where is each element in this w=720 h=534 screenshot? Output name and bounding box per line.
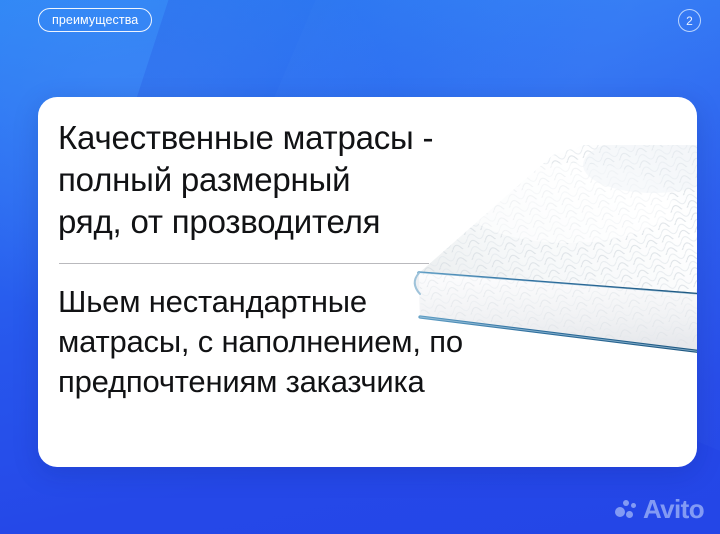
category-badge: преимущества bbox=[38, 8, 152, 32]
avito-watermark: Avito bbox=[615, 496, 704, 522]
slide-canvas: преимущества 2 bbox=[0, 0, 720, 534]
avito-logo-icon bbox=[615, 499, 637, 519]
avito-brand-label: Avito bbox=[643, 496, 704, 522]
subline-text: Шьем нестандартные матрасы, с наполнение… bbox=[58, 282, 558, 402]
content-card: Качественные матрасы - полный размерный … bbox=[38, 97, 697, 467]
category-badge-label: преимущества bbox=[52, 13, 138, 27]
page-number-label: 2 bbox=[686, 15, 693, 27]
page-number-badge: 2 bbox=[678, 9, 701, 32]
text-divider bbox=[59, 263, 429, 264]
headline-text: Качественные матрасы - полный размерный … bbox=[58, 117, 558, 243]
card-text-block: Качественные матрасы - полный размерный … bbox=[58, 117, 558, 402]
